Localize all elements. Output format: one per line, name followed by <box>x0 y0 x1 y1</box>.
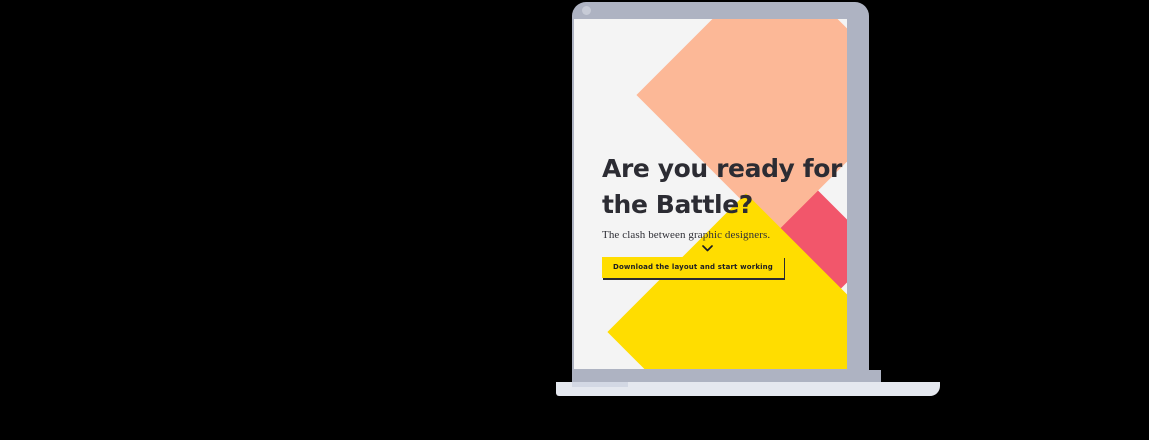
laptop-base-notch <box>572 382 628 387</box>
hero-section: Are you ready for the Battle? The clash … <box>602 151 847 278</box>
laptop-base-bar <box>572 370 881 382</box>
screenshot-stage: Are you ready for the Battle? The clash … <box>0 0 1149 440</box>
laptop-device-frame: Are you ready for the Battle? The clash … <box>560 0 960 440</box>
chevron-down-icon[interactable] <box>700 241 714 255</box>
cta-wrapper: Download the layout and start working <box>602 256 784 278</box>
camera-dot-icon <box>582 6 591 15</box>
hero-subtitle: The clash between graphic designers. <box>602 228 847 242</box>
page-title: Are you ready for the Battle? <box>602 151 847 222</box>
download-layout-button[interactable]: Download the layout and start working <box>602 257 784 278</box>
laptop-screen: Are you ready for the Battle? The clash … <box>574 19 847 369</box>
webpage-viewport: Are you ready for the Battle? The clash … <box>574 19 847 369</box>
